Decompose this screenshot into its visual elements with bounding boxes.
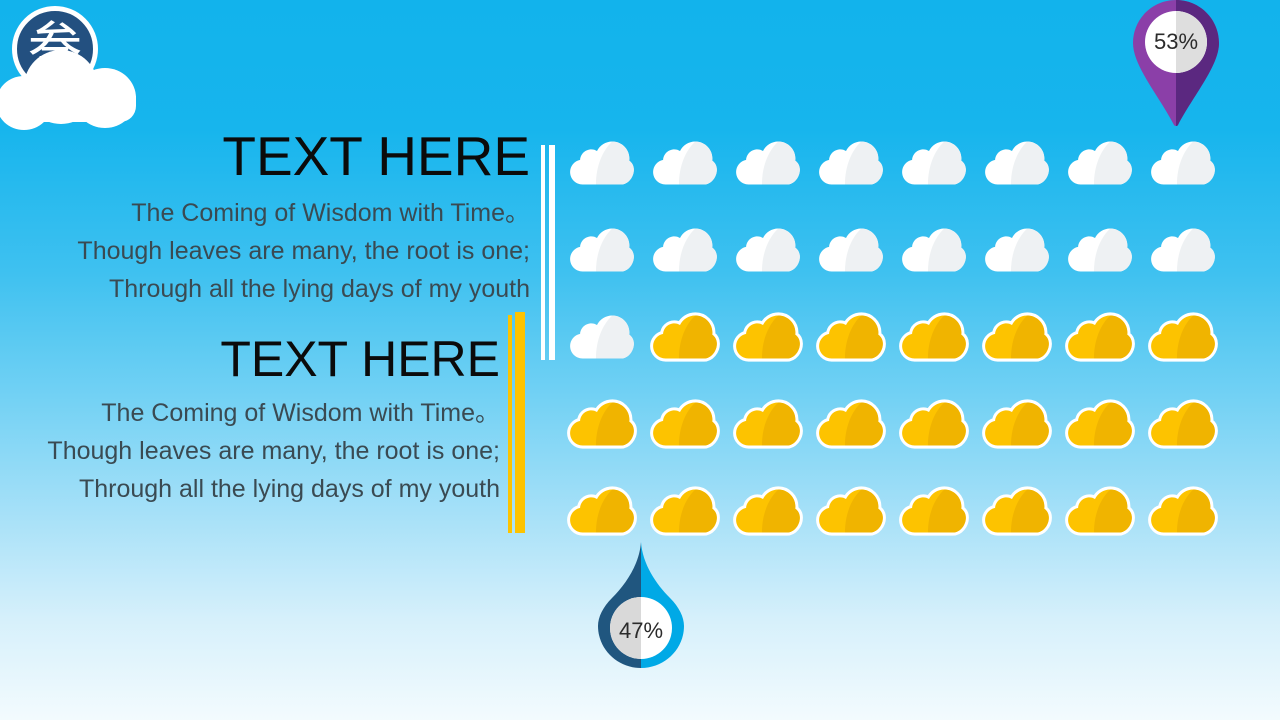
cloud-icon-yellow [1146, 486, 1220, 536]
water-drop-icon [598, 542, 684, 668]
cloud-icon [980, 399, 1054, 449]
cloud-icon-white [1146, 138, 1220, 188]
cloud-icon [648, 486, 722, 536]
body-line: Though leaves are many, the root is one; [40, 232, 530, 270]
cloud-icon-white [897, 225, 971, 275]
cloud-icon [731, 399, 805, 449]
cloud-icon [1146, 312, 1220, 362]
cloud-icon [648, 138, 722, 188]
cloud-icon-yellow [1146, 399, 1220, 449]
cloud-icon [648, 225, 722, 275]
cloud-icon [1063, 399, 1137, 449]
cloud-icon [814, 312, 888, 362]
cloud-icon [1063, 486, 1137, 536]
body-line: Though leaves are many, the root is one; [10, 432, 500, 470]
cloud-row [565, 312, 1225, 399]
body-line: The Coming of Wisdom with Time。 [40, 194, 530, 232]
cloud-icon-yellow [814, 399, 888, 449]
cloud-icon-yellow [1063, 312, 1137, 362]
cloud-icon [814, 138, 888, 188]
cloud-icon-yellow [980, 312, 1054, 362]
cloud-icon [648, 312, 722, 362]
cloud-icon [1146, 399, 1220, 449]
cloud-icon-yellow [731, 399, 805, 449]
cloud-icon [897, 225, 971, 275]
cloud-pictogram-grid [565, 138, 1225, 538]
cloud-icon [1063, 138, 1137, 188]
cloud-logo: 叁 [0, 2, 144, 127]
cloud-icon [731, 312, 805, 362]
cloud-icon [980, 225, 1054, 275]
cloud-icon [814, 486, 888, 536]
cloud-icon-white [814, 225, 888, 275]
cloud-icon [648, 399, 722, 449]
cloud-icon-yellow [897, 312, 971, 362]
cloud-icon-yellow [648, 399, 722, 449]
cloud-icon [565, 486, 639, 536]
cloud-icon-yellow [980, 486, 1054, 536]
divider-white-thick [549, 145, 555, 360]
body-text-1: The Coming of Wisdom with Time。 Though l… [40, 194, 530, 309]
cloud-icon [897, 399, 971, 449]
cloud-icon-white [1063, 138, 1137, 188]
cloud-icon [731, 225, 805, 275]
cloud-icon [1146, 225, 1220, 275]
cloud-icon-yellow [980, 399, 1054, 449]
cloud-icon [731, 138, 805, 188]
pin-marker: 53% [1133, 0, 1219, 126]
body-line: Through all the lying days of my youth [40, 270, 530, 308]
cloud-icon [1146, 138, 1220, 188]
cloud-icon-yellow [648, 312, 722, 362]
cloud-icon-yellow [1146, 312, 1220, 362]
cloud-icon [897, 312, 971, 362]
divider-yellow-thin [508, 315, 512, 533]
cloud-icon-white [980, 138, 1054, 188]
cloud-icon [814, 399, 888, 449]
cloud-icon-yellow [731, 486, 805, 536]
cloud-icon-yellow [814, 486, 888, 536]
logo-cloud-icon [0, 46, 138, 122]
cloud-icon-white [565, 312, 639, 362]
divider-yellow-thick [515, 312, 525, 533]
cloud-icon-white [1146, 225, 1220, 275]
cloud-row [565, 399, 1225, 486]
cloud-icon-yellow [565, 399, 639, 449]
cloud-icon-yellow [648, 486, 722, 536]
body-line: Through all the lying days of my youth [10, 470, 500, 508]
cloud-icon-yellow [814, 312, 888, 362]
cloud-icon [1063, 312, 1137, 362]
slide-canvas: 叁 TEXT HERE The Coming of Wisdom with Ti… [0, 0, 1280, 720]
cloud-icon [814, 225, 888, 275]
droplet-marker: 47% [598, 542, 684, 668]
cloud-icon-white [565, 138, 639, 188]
cloud-icon-yellow [565, 486, 639, 536]
map-pin-icon [1133, 0, 1219, 126]
cloud-icon-white [648, 225, 722, 275]
cloud-icon [980, 312, 1054, 362]
cloud-icon [565, 312, 639, 362]
heading-text-here-1: TEXT HERE [40, 128, 530, 186]
cloud-icon [980, 486, 1054, 536]
cloud-row [565, 138, 1225, 225]
cloud-icon [731, 486, 805, 536]
cloud-icon [565, 399, 639, 449]
cloud-icon [565, 225, 639, 275]
cloud-icon-white [565, 225, 639, 275]
cloud-icon-white [731, 225, 805, 275]
cloud-icon-white [814, 138, 888, 188]
cloud-icon-yellow [897, 399, 971, 449]
cloud-icon-white [1063, 225, 1137, 275]
cloud-icon-yellow [731, 312, 805, 362]
text-block-secondary: TEXT HERE The Coming of Wisdom with Time… [10, 333, 500, 508]
cloud-icon [897, 486, 971, 536]
cloud-row [565, 225, 1225, 312]
body-text-2: The Coming of Wisdom with Time。 Though l… [10, 394, 500, 509]
cloud-icon-yellow [1063, 399, 1137, 449]
cloud-icon [565, 138, 639, 188]
cloud-icon-white [648, 138, 722, 188]
cloud-icon-yellow [1063, 486, 1137, 536]
body-line: The Coming of Wisdom with Time。 [10, 394, 500, 432]
divider-white-thin [541, 145, 545, 360]
cloud-icon-white [731, 138, 805, 188]
cloud-icon [980, 138, 1054, 188]
cloud-icon [897, 138, 971, 188]
cloud-icon-white [897, 138, 971, 188]
text-block-primary: TEXT HERE The Coming of Wisdom with Time… [40, 128, 530, 309]
cloud-icon-yellow [897, 486, 971, 536]
heading-text-here-2: TEXT HERE [10, 333, 500, 386]
cloud-icon [1146, 486, 1220, 536]
cloud-icon [1063, 225, 1137, 275]
cloud-icon-white [980, 225, 1054, 275]
